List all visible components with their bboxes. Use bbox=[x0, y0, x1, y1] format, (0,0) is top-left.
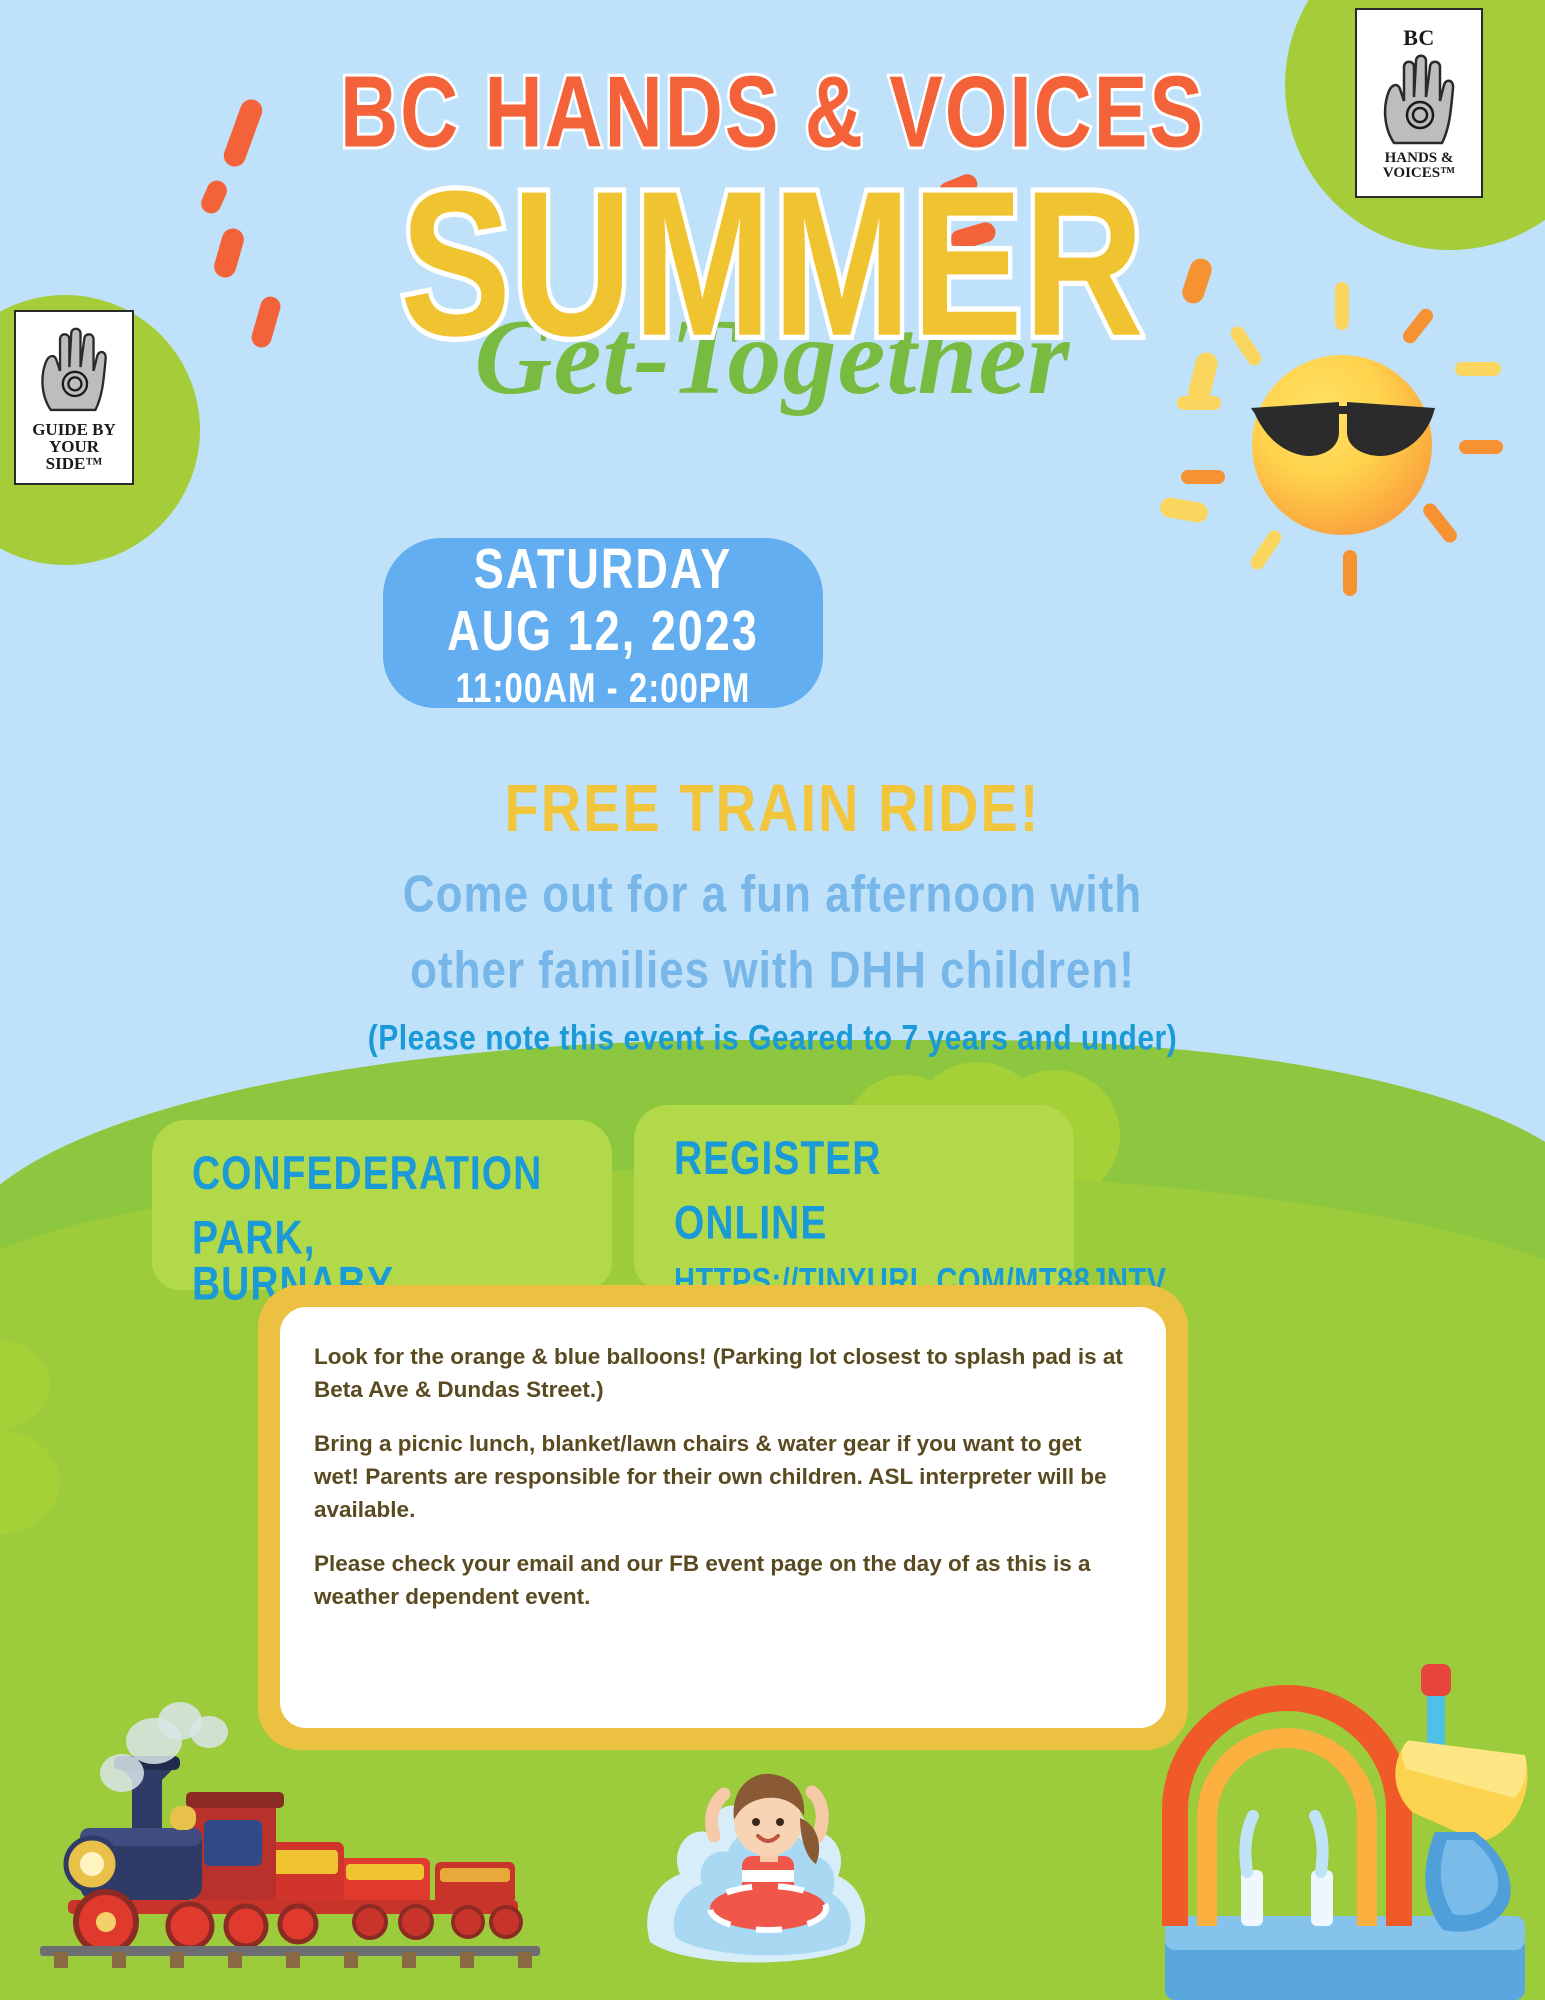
logo-bottom-line1: GUIDE BY bbox=[32, 421, 116, 438]
logo-top-text: BC bbox=[1403, 25, 1435, 51]
details-paragraph-2: Bring a picnic lunch, blanket/lawn chair… bbox=[314, 1428, 1132, 1526]
splash-pad-illustration bbox=[1135, 1640, 1535, 2000]
poster-canvas: BC HANDS & VOICES™ GUIDE BY YOUR SIDE™ bbox=[0, 0, 1545, 2000]
details-card-body: Look for the orange & blue balloons! (Pa… bbox=[280, 1307, 1166, 1728]
details-card: Look for the orange & blue balloons! (Pa… bbox=[258, 1285, 1188, 1750]
event-date-badge: SATURDAY AUG 12, 2023 11:00AM - 2:00PM bbox=[383, 538, 823, 708]
steam-train-illustration bbox=[40, 1710, 540, 1970]
register-box: REGISTER ONLINE HTTPS://TINYURL.COM/MT88… bbox=[634, 1105, 1074, 1290]
title-line-2: SUMMER bbox=[39, 161, 1507, 368]
free-train-headline: FREE TRAIN RIDE! bbox=[0, 769, 1545, 847]
location-box: CONFEDERATION PARK, BURNABY bbox=[152, 1120, 612, 1290]
details-paragraph-1: Look for the orange & blue balloons! (Pa… bbox=[314, 1341, 1132, 1406]
details-paragraph-3: Please check your email and our FB event… bbox=[314, 1548, 1132, 1613]
promo-line-1: Come out for a fun afternoon with bbox=[0, 866, 1545, 925]
event-date: AUG 12, 2023 bbox=[447, 602, 759, 658]
register-title: REGISTER ONLINE bbox=[674, 1127, 1034, 1255]
age-note: (Please note this event is Geared to 7 y… bbox=[0, 1019, 1545, 1059]
logo-bottom-line2: YOUR SIDE™ bbox=[24, 438, 124, 472]
girl-splashing-illustration bbox=[610, 1732, 950, 1992]
poster-title-block: BC HANDS & VOICES SUMMER Get-Together bbox=[0, 70, 1545, 412]
title-line-1: BC HANDS & VOICES bbox=[23, 61, 1522, 162]
location-line-1: CONFEDERATION PARK, bbox=[192, 1142, 572, 1270]
event-day: SATURDAY bbox=[474, 540, 733, 596]
promo-line-2: other families with DHH children! bbox=[0, 942, 1545, 1001]
event-time: 11:00AM - 2:00PM bbox=[456, 667, 751, 708]
